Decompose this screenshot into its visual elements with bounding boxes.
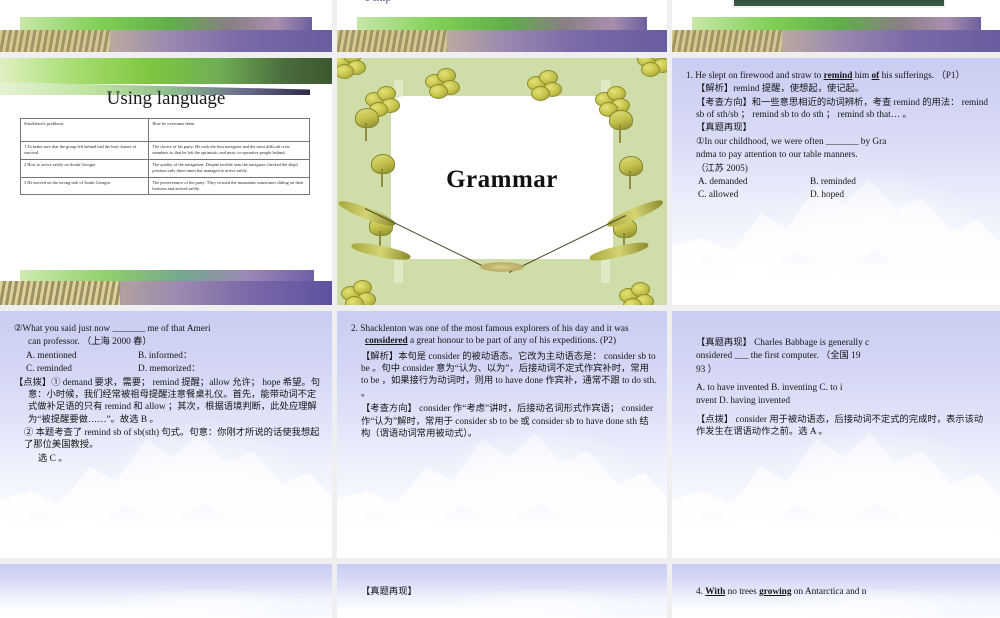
purple-band [337,30,667,52]
table-header-solutions: How he overcame them [149,119,310,142]
tulip-icon [609,110,631,140]
question-source: （江苏 2005) [686,163,991,175]
purple-band [672,30,1000,52]
cell-solution-3: The perseverance of the party: They cros… [149,177,310,195]
leaf-icon [337,197,397,230]
example-sentence: 1. He slept on firewood and straw to rem… [686,70,991,82]
flower-icon [341,280,375,305]
green-band [692,17,981,30]
flower-icon [619,282,653,305]
option-row: A. demanded B. reminded [686,176,991,189]
cell-problem-1: 1 To make sure that the group left behin… [21,142,149,160]
table-header-problems: Shackleton's problems [21,119,149,142]
cut-text-r4c2: 【真题再现】 [351,586,657,598]
flower-icon [637,58,667,76]
option-row: C. allowed D. hoped [686,189,991,202]
past-exam-line-1: 【真题再现】 Charles Babbage is generally c [686,337,991,349]
slide-body: 2. Shacklenton was one of the most famou… [337,311,667,558]
slide-thumbnail-r1c2[interactable]: e ship [337,0,667,52]
option-c: C. reminded [26,363,138,376]
option-d: D. hoped [810,189,844,202]
purple-band [0,30,332,52]
slide-thumbnail-grammar[interactable]: Grammar [337,58,667,305]
slide-thumbnail-remind-2[interactable]: ②What you said just now _______ me of th… [0,311,332,558]
slide-body: 1. He slept on firewood and straw to rem… [672,58,1000,305]
purple-band [0,281,332,305]
tip-text-2: ② 本题考查了 remind sb of sb(sth) 句式。句意：你刚才所说… [14,427,322,452]
analysis-text: 【解析】remind 提醒，使想起，使记起。 [686,83,991,95]
green-band [20,270,314,281]
antarctica-photo [732,0,946,8]
slide-thumbnail-considered[interactable]: 2. Shacklenton was one of the most famou… [337,311,667,558]
slide-thumbnail-r1c3[interactable] [672,0,1000,52]
past-exam-label: 【真题再现】 [686,122,991,134]
table-header-row: Shackleton's problems How he overcame th… [21,119,310,142]
example-sentence: 2. Shacklenton was one of the most famou… [351,323,657,348]
slide-thumbnail-r1c1[interactable] [0,0,332,52]
slide-body: 【真题再现】 [337,564,667,618]
option-d: D. memorized： [138,363,200,376]
past-exam-line-3: 93 ） [686,364,991,376]
flower-icon [337,58,365,78]
flower-icon [425,68,459,98]
options-line-2: nvent D. having invented [686,395,991,407]
page-title: Using language [0,88,332,110]
green-band [20,17,312,30]
cell-solution-2: The quality of the navigation: Despite t… [149,159,310,177]
spray-icon [479,262,525,272]
cell-solution-1: The choice of his party: He took the bes… [149,142,310,160]
slide-thumbnail-r4c2[interactable]: 【真题再现】 [337,564,667,618]
option-a: A. demanded [698,176,810,189]
slide-thumbnail-grid: e ship Using language Shackleton's probl… [0,0,1000,600]
table-row: 1 To make sure that the group left behin… [21,142,310,160]
tulip-icon [355,108,377,138]
analysis-text: 【解析】本句是 consider 的被动语态。它改为主动语态是： conside… [351,351,657,400]
slide-body [0,564,332,618]
option-b: B. reminded [810,176,856,189]
slide-body: 【真题再现】 Charles Babbage is generally c on… [672,311,1000,558]
cut-text-r1c2: e ship [365,0,391,4]
slide-body: ②What you said just now _______ me of th… [0,311,332,558]
cut-text-r4c3: 4. With no trees growing on Antarctica a… [686,586,991,598]
slide-thumbnail-babbage[interactable]: 【真题再现】 Charles Babbage is generally c on… [672,311,1000,558]
direction-text: 【考查方向】和一些意思相近的动词辨析，考查 remind 的用法： remind… [686,97,991,122]
past-exam-line-2: onsidered ___ the first computer. （全国 19 [686,350,991,362]
cell-problem-3: 3 He arrived on the wrong side of South … [21,177,149,195]
tip-text: 【点拨】 consider 用于被动语态，后接动词不定式的完成时，表示该动作发生… [686,414,991,439]
table-row: 2 How to arrive safely on South Georgia … [21,159,310,177]
option-row: C. reminded D. memorized： [14,363,322,376]
options-line-1: A. to have invented B. inventing C. to i [686,382,991,394]
question-line-2: ndma to pay attention to our table manne… [686,149,991,161]
slide-body: 4. With no trees growing on Antarctica a… [672,564,1000,618]
table-row: 3 He arrived on the wrong side of South … [21,177,310,195]
slide-title-grammar: Grammar [337,165,667,193]
slide-thumbnail-r4c3[interactable]: 4. With no trees growing on Antarctica a… [672,564,1000,618]
question-line-2: can professor. （上海 2000 春） [14,336,322,348]
option-a: A. mentioned [26,350,138,363]
option-b: B. informed： [138,350,192,363]
slide-thumbnail-remind-1[interactable]: 1. He slept on firewood and straw to rem… [672,58,1000,305]
flower-icon [527,70,561,100]
option-c: C. allowed [698,189,810,202]
shackleton-problems-table: Shackleton's problems How he overcame th… [20,118,310,195]
direction-text: 【考查方向】 consider 作“考虑”讲时，后接动名词形式作宾语； cons… [351,403,657,440]
slide-top-banner [0,58,332,84]
tip-answer: 选 C 。 [14,453,322,465]
question-line-1: ②What you said just now _______ me of th… [14,323,322,335]
slide-thumbnail-using-language[interactable]: Using language Shackleton's problems How… [0,58,332,305]
tip-text-1: 【点拨】① demand 要求，需要； remind 提醒；allow 允许； … [14,377,322,426]
cell-problem-2: 2 How to arrive safely on South Georgia [21,159,149,177]
question-line-1: ①In our childhood, we were often _______… [686,136,991,148]
slide-thumbnail-r4c1[interactable] [0,564,332,618]
option-row: A. mentioned B. informed： [14,350,322,363]
green-band [357,17,647,30]
